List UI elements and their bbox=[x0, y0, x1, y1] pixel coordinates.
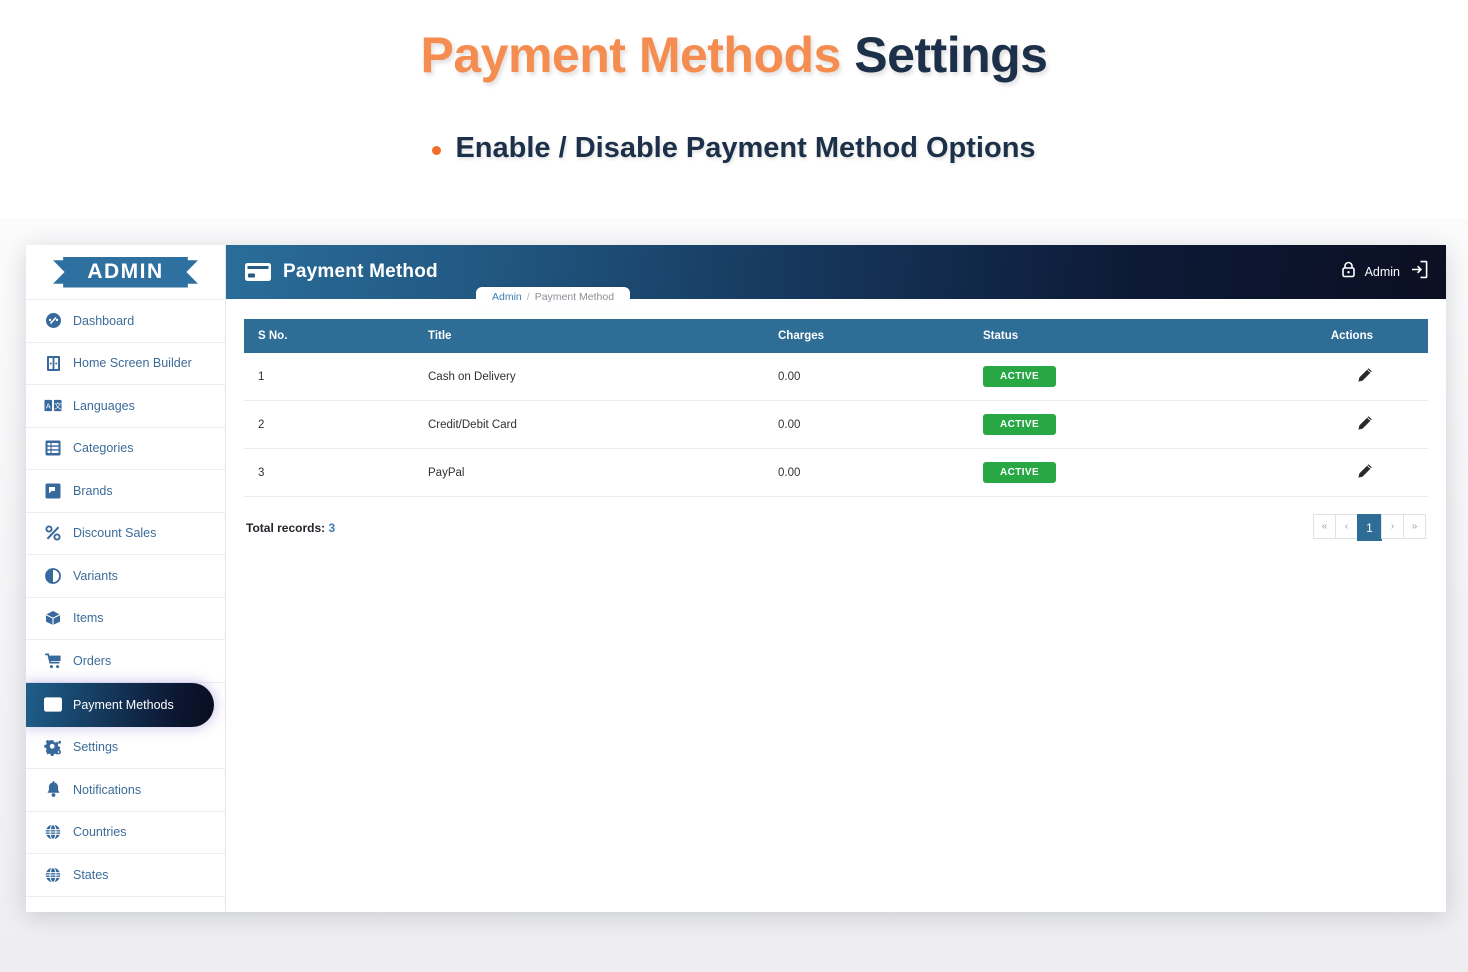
edit-button[interactable] bbox=[1357, 415, 1373, 431]
cell-status: ACTIVE bbox=[969, 353, 1314, 401]
table-body: 1Cash on Delivery0.00ACTIVE2Credit/Debit… bbox=[244, 353, 1428, 497]
sidebar-item-home-screen-builder[interactable]: Home Screen Builder bbox=[26, 343, 225, 386]
layout-builder-icon bbox=[44, 354, 62, 372]
credit-card-icon bbox=[44, 696, 62, 714]
cell-title: Cash on Delivery bbox=[414, 353, 764, 401]
cell-actions bbox=[1314, 449, 1428, 497]
box-icon bbox=[44, 609, 62, 627]
sidebar-item-label: Variants bbox=[73, 569, 118, 583]
sidebar-item-discount-sales[interactable]: Discount Sales bbox=[26, 513, 225, 556]
table-row: 1Cash on Delivery0.00ACTIVE bbox=[244, 353, 1428, 401]
sidebar-bottom-spacer bbox=[26, 897, 225, 913]
breadcrumb-root[interactable]: Admin bbox=[492, 291, 522, 303]
table-row: 3PayPal0.00ACTIVE bbox=[244, 449, 1428, 497]
bullet-row: Enable / Disable Payment Method Options bbox=[0, 132, 1468, 165]
sidebar-item-orders[interactable]: Orders bbox=[26, 640, 225, 683]
cell-status: ACTIVE bbox=[969, 401, 1314, 449]
sidebar-item-label: Payment Methods bbox=[73, 698, 174, 712]
sidebar-item-settings[interactable]: Settings bbox=[26, 727, 225, 770]
page-title: Payment Methods Settings bbox=[0, 26, 1468, 84]
column-header-charges: Charges bbox=[764, 319, 969, 353]
cell-charges: 0.00 bbox=[764, 353, 969, 401]
main-area: Payment Method Admin bbox=[226, 245, 1446, 912]
column-header-sno: S No. bbox=[244, 319, 414, 353]
payment-methods-table: S No. Title Charges Status Actions 1Cash… bbox=[244, 319, 1428, 497]
tag-icon bbox=[44, 482, 62, 500]
column-header-status: Status bbox=[969, 319, 1314, 353]
status-badge[interactable]: ACTIVE bbox=[983, 462, 1056, 483]
topbar-user-area[interactable]: Admin bbox=[1341, 260, 1428, 284]
breadcrumb-current: Payment Method bbox=[535, 291, 614, 303]
cell-charges: 0.00 bbox=[764, 449, 969, 497]
total-records: Total records: 3 bbox=[246, 521, 335, 535]
edit-button[interactable] bbox=[1357, 463, 1373, 479]
cell-title: PayPal bbox=[414, 449, 764, 497]
sidebar-logo: ADMIN bbox=[26, 245, 225, 300]
sidebar-item-label: Discount Sales bbox=[73, 526, 156, 540]
sidebar-item-items[interactable]: Items bbox=[26, 598, 225, 641]
sidebar-item-label: Categories bbox=[73, 441, 133, 455]
cell-actions bbox=[1314, 401, 1428, 449]
globe-icon bbox=[44, 823, 62, 841]
list-icon bbox=[44, 439, 62, 457]
pagination-current-page[interactable]: 1 bbox=[1357, 514, 1382, 541]
sidebar-item-payment-methods[interactable]: Payment Methods bbox=[26, 683, 214, 727]
cell-charges: 0.00 bbox=[764, 401, 969, 449]
pagination-button[interactable]: » bbox=[1403, 514, 1426, 539]
sidebar-item-categories[interactable]: Categories bbox=[26, 428, 225, 471]
admin-app-window: ADMIN DashboardHome Screen BuilderA文Lang… bbox=[26, 245, 1446, 912]
pencil-icon bbox=[1357, 419, 1373, 434]
cart-icon bbox=[44, 652, 62, 670]
bullet-dot-icon bbox=[432, 146, 441, 155]
username-label: Admin bbox=[1365, 265, 1400, 279]
pagination-button[interactable]: ‹ bbox=[1335, 514, 1358, 539]
title-accent: Payment Methods bbox=[421, 27, 841, 83]
logout-icon[interactable] bbox=[1409, 260, 1428, 284]
cell-title: Credit/Debit Card bbox=[414, 401, 764, 449]
cell-actions bbox=[1314, 353, 1428, 401]
table-head: S No. Title Charges Status Actions bbox=[244, 319, 1428, 353]
status-badge[interactable]: ACTIVE bbox=[983, 414, 1056, 435]
cell-sno: 2 bbox=[244, 401, 414, 449]
pagination: «‹1›» bbox=[1314, 514, 1426, 541]
sidebar-nav: DashboardHome Screen BuilderA文LanguagesC… bbox=[26, 300, 225, 897]
percent-icon bbox=[44, 524, 62, 542]
status-badge[interactable]: ACTIVE bbox=[983, 366, 1056, 387]
lock-icon bbox=[1341, 261, 1356, 283]
column-header-actions: Actions bbox=[1314, 319, 1428, 353]
sidebar-item-states[interactable]: States bbox=[26, 854, 225, 897]
table-footer: Total records: 3 «‹1›» bbox=[244, 497, 1428, 541]
sidebar-item-variants[interactable]: Variants bbox=[26, 555, 225, 598]
pencil-icon bbox=[1357, 371, 1373, 386]
bullet-text: Enable / Disable Payment Method Options bbox=[455, 132, 1035, 165]
sidebar-item-dashboard[interactable]: Dashboard bbox=[26, 300, 225, 343]
topbar-title: Payment Method bbox=[283, 261, 438, 283]
language-icon: A文 bbox=[44, 397, 62, 415]
gears-icon bbox=[44, 738, 62, 756]
breadcrumb: Admin/Payment Method bbox=[476, 287, 630, 306]
content-area: S No. Title Charges Status Actions 1Cash… bbox=[226, 299, 1446, 541]
total-records-label: Total records: bbox=[246, 521, 325, 535]
title-plain: Settings bbox=[841, 27, 1048, 83]
topbar: Payment Method Admin bbox=[226, 245, 1446, 299]
pagination-button[interactable]: « bbox=[1313, 514, 1336, 539]
sidebar-item-label: Notifications bbox=[73, 783, 141, 797]
sidebar-item-languages[interactable]: A文Languages bbox=[26, 385, 225, 428]
sidebar-item-label: Items bbox=[73, 611, 104, 625]
sidebar-item-notifications[interactable]: Notifications bbox=[26, 769, 225, 812]
sidebar-item-brands[interactable]: Brands bbox=[26, 470, 225, 513]
bell-icon bbox=[44, 781, 62, 799]
sidebar-item-label: Home Screen Builder bbox=[73, 356, 192, 370]
sidebar: ADMIN DashboardHome Screen BuilderA文Lang… bbox=[26, 245, 226, 912]
credit-card-icon bbox=[244, 261, 272, 283]
sidebar-item-label: Orders bbox=[73, 654, 111, 668]
contrast-circle-icon bbox=[44, 567, 62, 585]
sidebar-item-label: Settings bbox=[73, 740, 118, 754]
pagination-button[interactable]: › bbox=[1381, 514, 1404, 539]
cell-status: ACTIVE bbox=[969, 449, 1314, 497]
table-header-row: S No. Title Charges Status Actions bbox=[244, 319, 1428, 353]
svg-text:文: 文 bbox=[54, 401, 62, 411]
column-header-title: Title bbox=[414, 319, 764, 353]
total-records-value: 3 bbox=[328, 521, 335, 535]
table-row: 2Credit/Debit Card0.00ACTIVE bbox=[244, 401, 1428, 449]
globe-icon bbox=[44, 866, 62, 884]
pencil-icon bbox=[1357, 467, 1373, 482]
edit-button[interactable] bbox=[1357, 367, 1373, 383]
admin-logo-ribbon: ADMIN bbox=[53, 257, 198, 288]
cell-sno: 1 bbox=[244, 353, 414, 401]
cell-sno: 3 bbox=[244, 449, 414, 497]
sidebar-item-label: States bbox=[73, 868, 108, 882]
sidebar-item-label: Brands bbox=[73, 484, 113, 498]
breadcrumb-separator: / bbox=[527, 291, 530, 303]
sidebar-item-label: Dashboard bbox=[73, 314, 134, 328]
sidebar-item-countries[interactable]: Countries bbox=[26, 812, 225, 855]
speedometer-icon bbox=[44, 312, 62, 330]
slide-root: Payment Methods Settings Enable / Disabl… bbox=[0, 0, 1468, 972]
sidebar-item-label: Languages bbox=[73, 399, 135, 413]
sidebar-item-label: Countries bbox=[73, 825, 127, 839]
